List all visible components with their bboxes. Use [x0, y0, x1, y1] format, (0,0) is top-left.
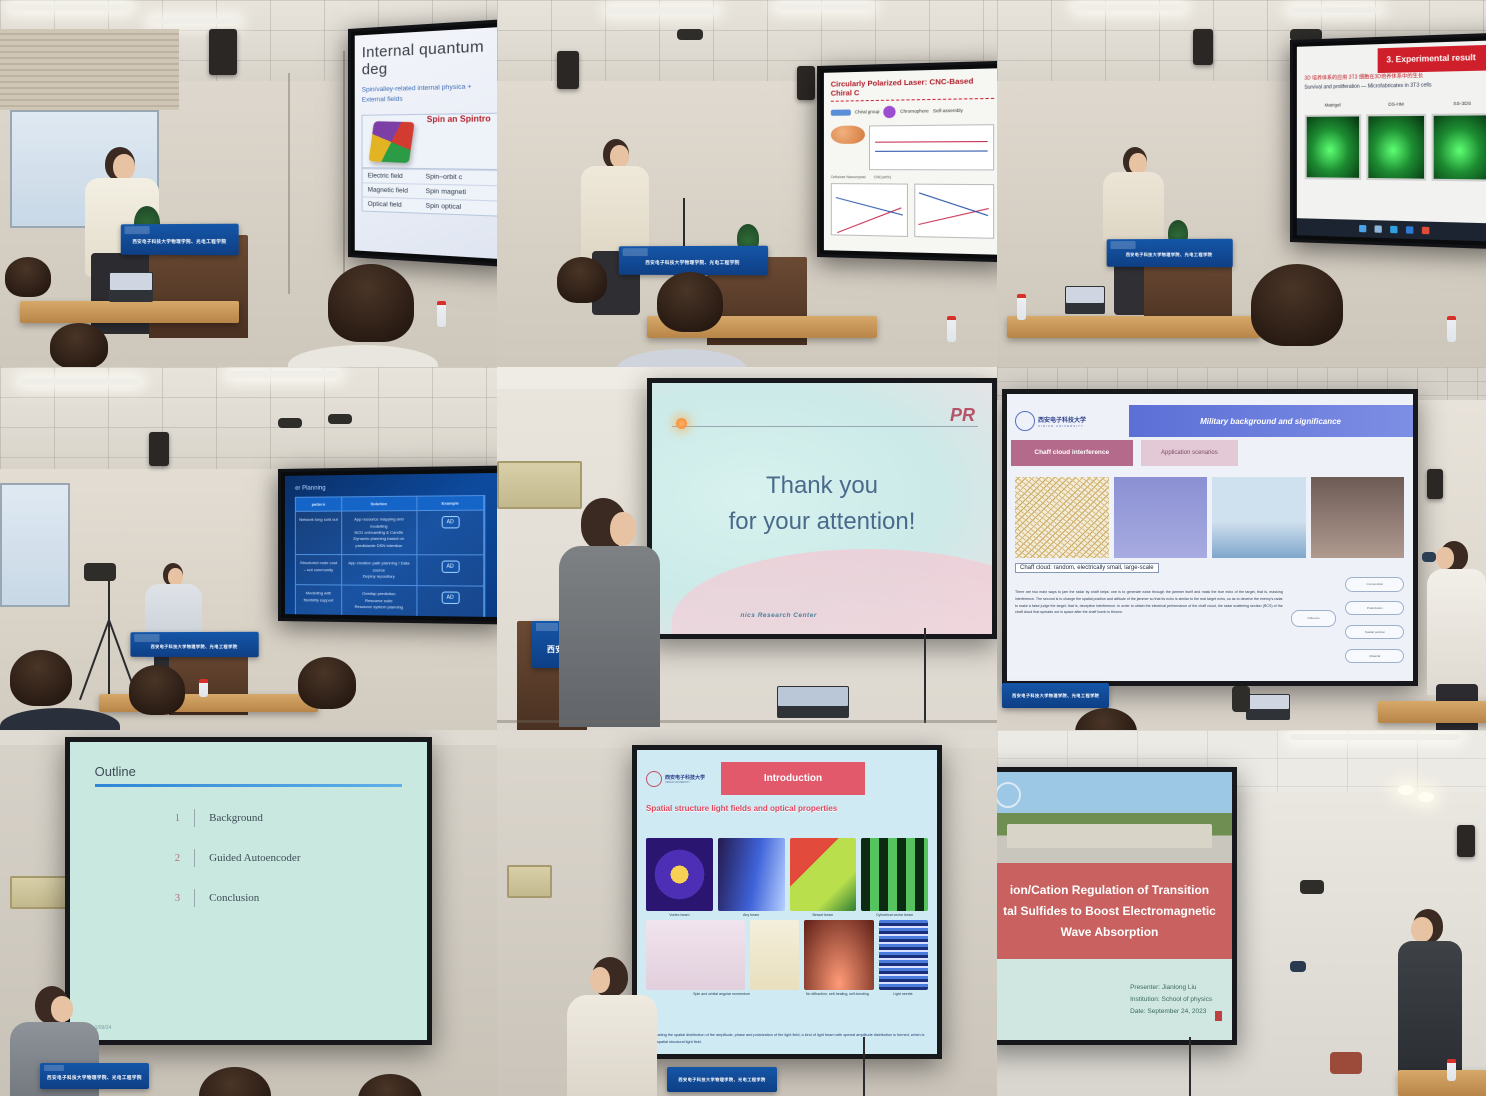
slide-institution: Institution: School of physics: [1130, 994, 1212, 1006]
podium-sign: 西安电子科技大学物理学院、光电工程学院: [1002, 683, 1110, 708]
laptop: [109, 272, 153, 302]
thank-you-line2: for your attention!: [652, 504, 992, 540]
university-logo: [623, 248, 648, 256]
slide-title: Circularly Polarized Laser: CNC-Based Ch…: [831, 76, 995, 102]
ceiling-light: [149, 18, 239, 24]
slide-subplots: [831, 183, 995, 239]
slide-table: Spin an Spintro Electric field Spin–orbi…: [362, 113, 497, 217]
slide-footer: nics Research Center: [740, 612, 816, 619]
video-camera: [84, 563, 116, 581]
caption-bessel-beam: Bessel beam: [790, 913, 857, 918]
projection-screen: ion/Cation Regulation of Transition tal …: [997, 767, 1237, 1045]
audience-head: [328, 264, 414, 342]
figure-row-2: [646, 920, 928, 990]
slide-experimental-results: 3. Experimental result 3D 培养体系的应用 3T3 细胞…: [1297, 41, 1486, 242]
podium-sign-text: 西安电子科技大学物理学院、光电工程学院: [1125, 252, 1212, 258]
university-logo: [1110, 241, 1135, 249]
table-cell-example: AD: [417, 554, 485, 586]
table-cell-pattern: Network long sold out: [296, 510, 342, 554]
water-bottle: [947, 316, 956, 342]
slide-table: pattern Solution Example Network long so…: [295, 495, 486, 617]
ceiling-downlight: [1418, 792, 1434, 802]
caption-vortex-beam: Vortex beam: [646, 913, 713, 918]
micrograph-captions: Matrigel DS-HM SS-3DS: [1305, 101, 1486, 108]
light-needle-image: [879, 920, 928, 990]
lecture-room: PR Thank you for your attention! nics Re…: [497, 367, 997, 730]
wall-control-panel: [1290, 961, 1306, 972]
audience-head: [129, 665, 185, 715]
audience-head: [298, 657, 356, 709]
thank-you-line1: Thank you: [652, 468, 992, 504]
flow-root-node: Influence: [1291, 610, 1336, 627]
outline-item: 3 Conclusion: [95, 889, 403, 907]
university-logo: [44, 1065, 64, 1071]
podium-sign: 西安电子科技大学物理学院、光电工程学院: [121, 224, 239, 256]
wall-plaque: [10, 876, 70, 909]
legend-self-assembly: Self-assembly: [933, 108, 963, 114]
campus-photo: [997, 772, 1232, 863]
podium-sign: 西安电子科技大学物理学院、光电工程学院: [1106, 238, 1232, 266]
ad-node: AD: [442, 516, 460, 528]
ceiling-camera: [278, 418, 302, 428]
storage-box: [1330, 1052, 1362, 1074]
slide-subtitle: Spin/valley-related internal physica + E…: [362, 81, 497, 106]
watermark-logo: PR: [950, 405, 975, 426]
wall-display: er Planning pattern Solution Example Net…: [278, 465, 497, 624]
thank-you-text: Thank you for your attention!: [652, 468, 992, 540]
university-name-cn: 西安电子科技大学: [665, 774, 705, 781]
desk: [20, 301, 239, 323]
slide-introduction: 西安电子科技大学 XIDIAN UNIVERSITY Introduction …: [637, 750, 937, 1055]
slide-legend-row: Chiral group Chromophore Self-assembly: [831, 104, 995, 119]
caption-cylindrical-vector-beam: Cylindrical vector beam: [861, 913, 928, 918]
figure-captions-1: Vortex beam Airy beam Bessel beam Cylind…: [646, 913, 928, 918]
outline-item-number: 1: [175, 812, 181, 824]
audience-head: [557, 257, 607, 303]
wall-speaker: [1427, 469, 1443, 499]
panel-experimental-results-talk: 3. Experimental result 3D 培养体系的应用 3T3 细胞…: [997, 0, 1486, 367]
start-icon[interactable]: [1360, 225, 1367, 232]
mic-stand: [857, 1037, 871, 1096]
sun-icon: [676, 418, 687, 429]
panel-thank-you-talk: PR Thank you for your attention! nics Re…: [497, 367, 997, 730]
audience-head: [50, 323, 108, 367]
outline-item-number: 3: [175, 892, 181, 904]
wall-plaque: [507, 865, 552, 898]
pill-application-scenarios: Application scenarios: [1141, 440, 1238, 466]
slide-metadata: Presenter: Jianlong Liu Institution: Sch…: [1130, 982, 1212, 1018]
caption-light-needle: Light needle: [878, 992, 928, 997]
caption-airy-beam: Airy beam: [718, 913, 785, 918]
chaff-cartridge-image: [1114, 477, 1208, 558]
podium-sign: 西安电子科技大学物理学院、光电工程学院: [667, 1067, 777, 1093]
caption-nondiffraction: No diffraction, self-healing, self-bendi…: [802, 992, 873, 997]
chaff-fibers-image: [1015, 477, 1109, 558]
airy-beam-image: [718, 838, 785, 911]
chiral-group-icon: [831, 109, 851, 115]
table-cell-example: AD: [417, 509, 485, 554]
slide-diagram-row: [831, 124, 995, 170]
outline-item: 1 Background: [95, 809, 403, 827]
column-header-example: Example: [417, 496, 485, 510]
window: [0, 483, 70, 606]
decorative-hairline: [672, 426, 978, 427]
flow-node: Material: [1345, 649, 1404, 664]
panel-introduction-light-fields-talk: 西安电子科技大学 XIDIAN UNIVERSITY Introduction …: [497, 730, 997, 1096]
slide-planning-table: er Planning pattern Solution Example Net…: [285, 473, 497, 618]
slide-title-line1: ion/Cation Regulation of Transition: [1010, 883, 1209, 897]
lecture-room: ion/Cation Regulation of Transition tal …: [997, 730, 1486, 1096]
table-cell-example: AD: [417, 585, 485, 617]
laptop: [1065, 286, 1105, 314]
micrograph-row: [1305, 113, 1486, 181]
lecture-room: Outline 1 Background 2 Guided Autoencode…: [0, 730, 497, 1096]
caption-ss-3ds: SS-3DS: [1432, 101, 1486, 107]
slide-internal-quantum-degrees: Internal quantum deg Spin/valley-related…: [355, 27, 497, 259]
water-bottle: [1447, 1059, 1456, 1081]
slide-title: Internal quantum deg: [362, 37, 497, 79]
panel-outline-talk: Outline 1 Background 2 Guided Autoencode…: [0, 730, 497, 1096]
naval-chaff-image: [1212, 477, 1306, 558]
mic-stand: [1183, 1037, 1197, 1096]
caption-ds-hm: DS-HM: [1367, 102, 1427, 108]
micrograph-image: [1367, 114, 1427, 181]
search-icon[interactable]: [1375, 226, 1382, 233]
table-cell-field: Optical field: [363, 197, 421, 213]
table-cell-solution: App resource mapping and modelling NCD o…: [342, 510, 417, 554]
mic-stand: [917, 628, 933, 722]
ad-node: AD: [442, 560, 460, 572]
micrograph-image: [1305, 114, 1362, 180]
slide-caption: Chaff cloud: random, electrically small,…: [1015, 563, 1159, 573]
university-logo: [536, 623, 558, 631]
lecture-room: 西安电子科技大学 XIDIAN UNIVERSITY Military back…: [997, 367, 1486, 730]
podium-sign-text: 西安电子科技大学物理学院、光电工程学院: [133, 239, 227, 245]
outline-item: 2 Guided Autoencoder: [95, 849, 403, 867]
ceiling-light: [607, 7, 717, 14]
panel-internal-quantum-degrees-talk: Internal quantum deg Spin/valley-related…: [0, 0, 497, 367]
ceiling-light: [1290, 7, 1380, 13]
podium-sign-text: 西安电子科技大学物理学院、光电工程学院: [47, 1075, 142, 1081]
table-cell-solution: Overlap prediction Resource suite Resour…: [342, 584, 417, 616]
divider: [194, 889, 195, 907]
chromophore-icon: [884, 106, 896, 118]
projection-screen: Outline 1 Background 2 Guided Autoencode…: [65, 737, 433, 1044]
window-blinds: [0, 29, 179, 110]
figure-row-1: [646, 838, 928, 911]
audience-head: [10, 650, 72, 706]
slide-section-title: Military background and significance: [1129, 405, 1413, 437]
projection-screen: 西安电子科技大学 XIDIAN UNIVERSITY Military back…: [1002, 389, 1418, 687]
university-name-en: XIDIAN UNIVERSITY: [665, 781, 705, 784]
audience-head: [657, 272, 723, 332]
slide-flow-diagram: Influence Composition Polarization Spati…: [1291, 575, 1405, 667]
slide-date: Date: September 24, 2023: [1130, 1006, 1212, 1018]
note-cnc: CNC(wt%): [874, 175, 891, 179]
windows-taskbar[interactable]: [1297, 218, 1486, 241]
mail-icon[interactable]: [1407, 227, 1414, 235]
podium-sign-text: 西安电子科技大学物理学院、光电工程学院: [678, 1077, 765, 1083]
aircraft-chaff-image: [1311, 477, 1405, 558]
slide-header: 3D 培养体系的应用 3T3 细胞在3D培养体系中的生长 Survival an…: [1305, 71, 1486, 92]
bessel-beam-image: [790, 838, 857, 911]
wall-speaker: [797, 66, 815, 100]
university-seal-icon: [646, 771, 662, 787]
presenter: [567, 957, 657, 1096]
ceiling-light: [20, 378, 140, 385]
water-bottle: [1447, 316, 1456, 342]
wall-speaker: [149, 432, 169, 466]
wall-display: 3. Experimental result 3D 培养体系的应用 3T3 细胞…: [1290, 33, 1486, 250]
projection-screen: 西安电子科技大学 XIDIAN UNIVERSITY Introduction …: [632, 745, 942, 1060]
table-cell-effect: Spin optical: [420, 198, 497, 215]
slide-bullet: By adjusting the spatial distribution of…: [646, 1032, 928, 1045]
laptop: [1246, 694, 1290, 720]
ad-node: AD: [442, 591, 460, 604]
title-rule: [95, 784, 403, 787]
nondiffraction-image: [804, 920, 873, 990]
legend-chiral-group: Chiral group: [855, 109, 880, 114]
panel-military-chaff-cloud-talk: 西安电子科技大学 XIDIAN UNIVERSITY Military back…: [997, 367, 1486, 730]
column-header-pattern: pattern: [296, 497, 342, 510]
podium-sign: 西安电子科技大学物理学院、光电工程学院: [40, 1063, 149, 1089]
ceiling-camera: [677, 29, 703, 40]
flow-node: Spatial position: [1345, 625, 1404, 640]
university-logo: [125, 226, 150, 234]
slide-notes: Cellulose Nanocrystal CNC(wt%): [831, 175, 995, 180]
ceiling-light: [10, 4, 130, 11]
decorative-swoop: [672, 549, 992, 634]
outline-item-label: Guided Autoencoder: [209, 852, 300, 864]
slide-photo-row: [1015, 477, 1404, 558]
slide-title: er Planning: [295, 483, 486, 491]
spin-orbital-momentum-image: [646, 920, 745, 990]
app-icon[interactable]: [1422, 227, 1429, 235]
wall-speaker: [557, 51, 579, 89]
desk: [1398, 1070, 1486, 1096]
water-bottle: [1017, 294, 1026, 320]
lecture-room: Internal quantum deg Spin/valley-related…: [0, 0, 497, 367]
decorative-square: [1215, 1011, 1222, 1021]
podium-sign-text: 西安电子科技大学物理学院、光电工程学院: [1012, 693, 1099, 699]
cube-diagram: [368, 121, 414, 163]
lecture-room: er Planning pattern Solution Example Net…: [0, 367, 497, 730]
presenter: [1427, 541, 1486, 715]
slide-accent-title: Spin an Spintro: [420, 114, 497, 170]
podium-sign: 西安电子科技大学物理学院、光电工程学院: [131, 632, 260, 658]
university-seal-icon: [1015, 411, 1035, 431]
panel-em-wave-absorption-title-talk: ion/Cation Regulation of Transition tal …: [997, 730, 1486, 1096]
wall-display: Internal quantum deg Spin/valley-related…: [348, 19, 497, 267]
laptop: [777, 686, 849, 718]
university-logo: [134, 634, 159, 642]
wall-display: Circularly Polarized Laser: CNC-Based Ch…: [817, 61, 997, 263]
slide-presenter: Presenter: Jianlong Liu: [1130, 982, 1212, 994]
slide-title: Outline: [95, 764, 403, 779]
vortex-beam-image: [646, 838, 713, 911]
slide-banner: 3. Experimental result: [1378, 45, 1486, 74]
audience-head: [5, 257, 51, 297]
slide-title-line3: Wave Absorption: [1061, 925, 1159, 939]
slide-title-band: ion/Cation Regulation of Transition tal …: [997, 863, 1232, 960]
slide-title-line2: tal Sulfides to Boost Electromagnetic: [1003, 904, 1216, 918]
presenter: [557, 498, 667, 730]
flow-node: Polarization: [1345, 601, 1404, 616]
wall-speaker: [209, 29, 237, 75]
outline-item-number: 2: [175, 852, 181, 864]
lecture-room: 西安电子科技大学 XIDIAN UNIVERSITY Introduction …: [497, 730, 997, 1096]
lecture-room: Circularly Polarized Laser: CNC-Based Ch…: [497, 0, 997, 367]
ceiling-camera: [328, 414, 352, 424]
panel-chiral-cnc-laser-talk: Circularly Polarized Laser: CNC-Based Ch…: [497, 0, 997, 367]
subplot-b: [914, 183, 995, 238]
note-cellulose: Cellulose Nanocrystal: [831, 175, 866, 179]
slide-em-wave-absorption-title: ion/Cation Regulation of Transition tal …: [997, 772, 1232, 1040]
slide-thank-you: PR Thank you for your attention! nics Re…: [652, 383, 992, 634]
table-cell-solution: App creation path planning / Data source…: [342, 554, 417, 585]
caption-matrigel: Matrigel: [1305, 103, 1362, 109]
outline-item-label: Conclusion: [209, 892, 259, 904]
podium-sign: 西安电子科技大学物理学院、光电工程学院: [619, 246, 768, 276]
podium-sign-text: 西安电子科技大学物理学院、光电工程学院: [151, 644, 238, 650]
cnc-assembly-diagram: [831, 125, 865, 143]
water-bottle: [437, 301, 446, 327]
spectrum-plot: [869, 124, 995, 170]
pill-chaff-cloud-interference: Chaff cloud interference: [1011, 440, 1133, 466]
flow-node: Composition: [1345, 577, 1404, 592]
ceiling-light: [229, 371, 339, 378]
lecture-room: 3. Experimental result 3D 培养体系的应用 3T3 细胞…: [997, 0, 1486, 367]
outline-item-label: Background: [209, 812, 263, 824]
divider: [194, 809, 195, 827]
slide-chiral-cnc: Circularly Polarized Laser: CNC-Based Ch…: [824, 68, 997, 254]
audience-head: [1251, 264, 1343, 346]
ceiling-light-strip: [1290, 734, 1460, 740]
university-name-cn: 西安电子科技大学: [1038, 415, 1086, 424]
photo-collage-grid: Internal quantum deg Spin/valley-related…: [0, 0, 1486, 1096]
desk: [1378, 701, 1486, 723]
ceiling-light: [777, 4, 873, 10]
legend-chromophore: Chromophore: [900, 109, 929, 115]
wall-speaker: [1193, 29, 1213, 65]
caption-spin-orbital-momentum: Spin and orbital angular momentum: [646, 992, 797, 997]
wall-speaker: [1457, 825, 1475, 857]
micrograph-image: [1432, 113, 1486, 181]
panel-planning-table-talk: er Planning pattern Solution Example Net…: [0, 367, 497, 730]
university-name-en: XIDIAN UNIVERSITY: [1038, 424, 1086, 428]
projection-screen: PR Thank you for your attention! nics Re…: [647, 378, 997, 639]
slide-title: Introduction: [721, 762, 865, 796]
browser-icon[interactable]: [1391, 226, 1398, 233]
slide-military-chaff: 西安电子科技大学 XIDIAN UNIVERSITY Military back…: [1007, 394, 1413, 682]
ceiling-light: [1075, 4, 1185, 11]
slide-heading: Spatial structure light fields and optic…: [646, 804, 928, 813]
wall-camera: [1232, 686, 1250, 712]
water-bottle: [199, 679, 208, 697]
figure-captions-2: Spin and orbital angular momentum No dif…: [646, 992, 928, 997]
helix-image: [750, 920, 799, 990]
divider: [194, 849, 195, 867]
camera-tripod: [89, 574, 129, 705]
university-header: 西安电子科技大学 XIDIAN UNIVERSITY: [1015, 405, 1125, 437]
table-cell-pattern: Structured node cost – not community: [296, 554, 342, 585]
subplot-a: [831, 183, 908, 237]
desk: [1007, 316, 1261, 338]
cylindrical-vector-beam-image: [861, 838, 928, 911]
table-cell-pattern: Modelling with flexibility support: [296, 584, 342, 615]
column-header-solution: Solution: [342, 497, 417, 511]
podium-sign-text: 西安电子科技大学物理学院、光电工程学院: [645, 260, 739, 266]
slide-outline: Outline 1 Background 2 Guided Autoencode…: [70, 742, 428, 1039]
ceiling-downlight: [1398, 785, 1414, 795]
projector-mount: [1300, 880, 1324, 894]
university-header: 西安电子科技大学 XIDIAN UNIVERSITY: [646, 762, 718, 796]
slide-body-text: There are two main ways to jam the radar…: [1015, 589, 1283, 616]
